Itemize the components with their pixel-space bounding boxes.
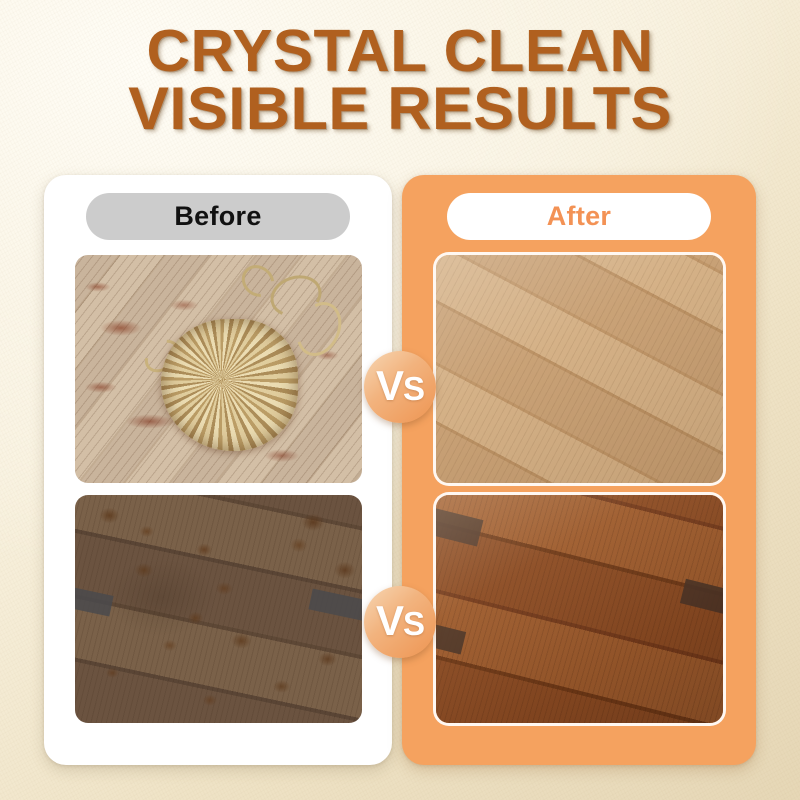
headline-line-1: CRYSTAL CLEAN xyxy=(0,22,800,80)
before-panel: Before xyxy=(44,175,392,765)
stain-spots-layer xyxy=(75,495,362,723)
before-label-pill: Before xyxy=(86,193,350,240)
after-label-text: After xyxy=(547,201,612,232)
vs-letter-v: V xyxy=(376,367,403,405)
before-label-text: Before xyxy=(174,201,261,232)
vs-letter-v: V xyxy=(376,602,403,640)
after-photo-clean-light-wood xyxy=(436,255,723,483)
after-photo-restored-wood xyxy=(436,495,723,723)
before-photo-spilled-spaghetti xyxy=(75,255,362,483)
floor-sheen-layer xyxy=(436,255,723,483)
after-panel: After xyxy=(402,175,756,765)
vs-badge-top: VS xyxy=(364,351,436,423)
before-after-comparison: Before After xyxy=(44,175,756,765)
after-label-pill: After xyxy=(447,193,711,240)
vs-letter-s: S xyxy=(403,370,424,408)
headline-line-2: VISIBLE RESULTS xyxy=(0,80,800,138)
vs-letter-s: S xyxy=(403,605,424,643)
before-photo-stained-floor xyxy=(75,495,362,723)
floor-gloss-layer xyxy=(436,495,723,723)
vs-badge-label: VS xyxy=(376,602,424,643)
vs-badge-label: VS xyxy=(376,367,424,408)
page-title: CRYSTAL CLEAN VISIBLE RESULTS xyxy=(0,22,800,138)
vs-badge-bottom: VS xyxy=(364,586,436,658)
